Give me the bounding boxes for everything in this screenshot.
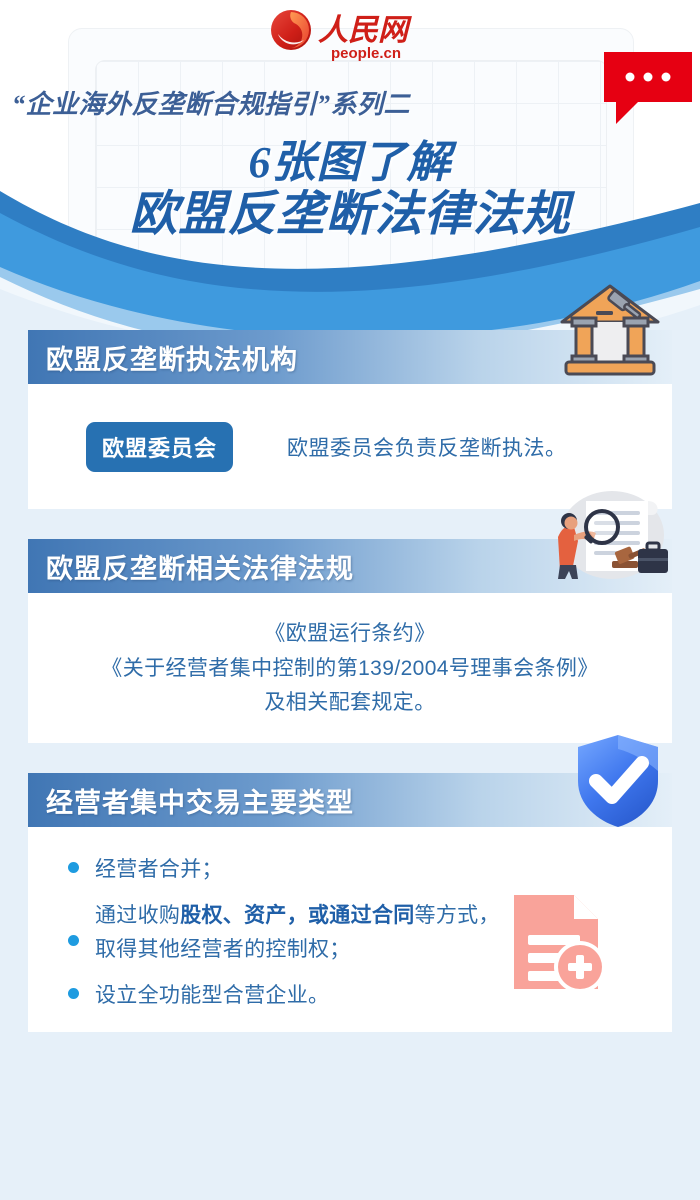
hero-subtitle: “企业海外反垄断合规指引”系列二 xyxy=(12,84,410,121)
list-item: 经营者合并； xyxy=(68,853,650,887)
svg-text:people.cn: people.cn xyxy=(331,45,401,62)
list-item-text-plain-end: 等方式， xyxy=(415,904,500,927)
page-title-line-1: 6张图了解 xyxy=(0,140,700,186)
document-review-magnifier-icon xyxy=(540,485,672,583)
section-body: 《欧盟运行条约》 《关于经营者集中控制的第139/2004号理事会条例》 及相关… xyxy=(28,593,672,743)
dot-2 xyxy=(644,73,653,82)
section-header: 欧盟反垄断相关法律法规 xyxy=(28,539,672,593)
list-item-text-emphasis: 股权、资产，或通过合同 xyxy=(180,904,414,927)
hero-banner: 人民网 people.cn “企业海外反垄断合规指引”系列二 6张图了解 欧盟反… xyxy=(0,0,700,330)
courthouse-gavel-icon xyxy=(558,282,662,378)
section-header: 欧盟反垄断执法机构 xyxy=(28,330,672,384)
section-heading-text: 欧盟反垄断执法机构 xyxy=(46,338,298,377)
page-title-line-2: 欧盟反垄断法律法规 xyxy=(0,190,700,240)
section-card-concentration-types: 经营者集中交易主要类型 xyxy=(28,773,672,1032)
list-item-text: 设立全功能型合营企业。 xyxy=(95,979,329,1013)
page-title: 6张图了解 欧盟反垄断法律法规 xyxy=(0,140,700,241)
content-area: 欧盟反垄断执法机构 xyxy=(0,330,700,1062)
shield-check-icon xyxy=(572,731,664,831)
ellipsis-dots xyxy=(626,73,671,82)
law-line: 《关于经营者集中控制的第139/2004号理事会条例》 xyxy=(50,652,650,687)
bullet-dot-icon xyxy=(68,935,79,946)
list-item-text: 通过收购股权、资产，或通过合同等方式， 取得其他经营者的控制权； xyxy=(95,899,500,967)
dot-1 xyxy=(626,73,635,82)
people-cn-logo[interactable]: 人民网 people.cn xyxy=(268,8,438,64)
bullet-dot-icon xyxy=(68,862,79,873)
bullet-dot-icon xyxy=(68,988,79,999)
section-heading-text: 经营者集中交易主要类型 xyxy=(46,781,354,820)
section-card-related-laws: 欧盟反垄断相关法律法规 xyxy=(28,539,672,743)
section-heading-text: 欧盟反垄断相关法律法规 xyxy=(46,547,354,586)
law-line: 及相关配套规定。 xyxy=(50,686,650,721)
list-item-text-line-2: 取得其他经营者的控制权； xyxy=(95,938,351,961)
section-card-enforcement-agency: 欧盟反垄断执法机构 xyxy=(28,330,672,509)
dot-3 xyxy=(662,73,671,82)
bubble-tail xyxy=(616,102,638,124)
status-badge-eu-commission: 欧盟委员会 xyxy=(86,422,233,472)
svg-text:人民网: 人民网 xyxy=(318,14,412,47)
list-item-text: 经营者合并； xyxy=(95,853,223,887)
law-line: 《欧盟运行条约》 xyxy=(50,617,650,652)
list-item-text-plain-start: 通过收购 xyxy=(95,904,180,927)
speech-bubble-ellipsis-icon xyxy=(604,52,692,102)
section-description: 欧盟委员会负责反垄断执法。 xyxy=(287,432,567,462)
section-header: 经营者集中交易主要类型 xyxy=(28,773,672,827)
file-plus-icon xyxy=(506,891,610,997)
